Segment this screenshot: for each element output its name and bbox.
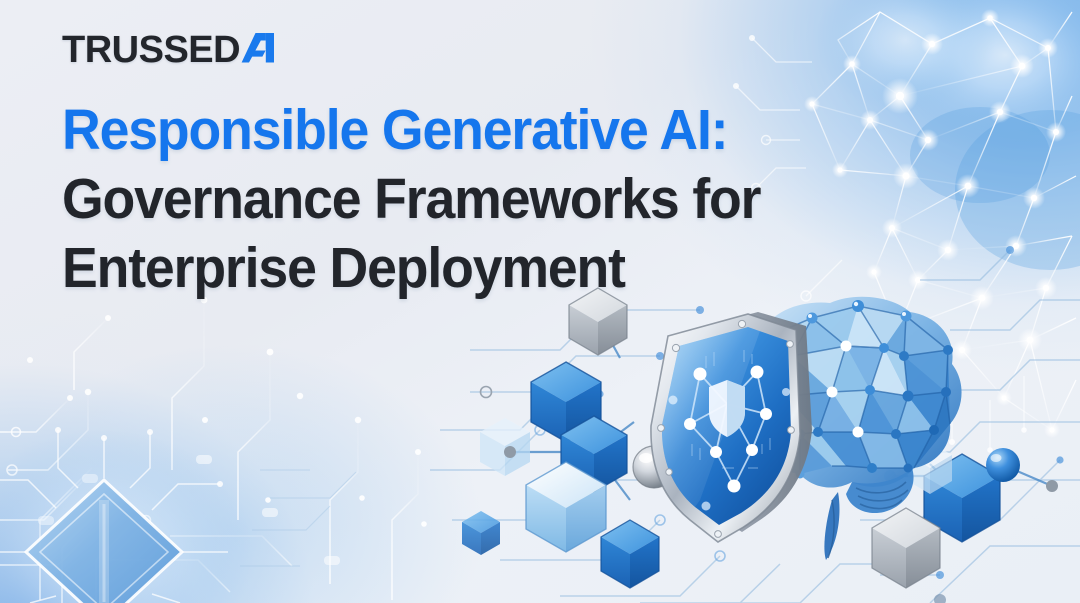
logo-ai-mark-icon bbox=[241, 29, 281, 72]
headline-line-1: Responsible Generative AI: bbox=[62, 96, 842, 165]
cube-gray-2 bbox=[872, 508, 940, 588]
sphere-blue bbox=[986, 448, 1020, 482]
headline-line-3: Enterprise Deployment bbox=[62, 234, 842, 303]
cube-blue-4 bbox=[462, 511, 500, 555]
sphere-silver bbox=[633, 446, 675, 488]
brand-logo[interactable]: TRUSSED bbox=[62, 28, 281, 72]
cube-blue-1 bbox=[531, 362, 601, 442]
cube-glass-1 bbox=[480, 418, 530, 476]
cube-glass-2 bbox=[908, 442, 952, 494]
cube-blue-2 bbox=[561, 416, 627, 492]
cube-blue-5 bbox=[924, 454, 1000, 542]
cube-blue-3 bbox=[601, 520, 659, 588]
node-dots bbox=[481, 387, 1059, 603]
banner-canvas: TRUSSED Responsible Generative AI: Gover… bbox=[0, 0, 1080, 603]
inner-shield-emblem bbox=[709, 380, 745, 437]
page-title: Responsible Generative AI: Governance Fr… bbox=[62, 96, 892, 303]
logo-wordmark: TRUSSED bbox=[62, 31, 240, 69]
headline-line-2: Governance Frameworks for bbox=[62, 165, 842, 234]
cube-light-1 bbox=[526, 462, 606, 552]
